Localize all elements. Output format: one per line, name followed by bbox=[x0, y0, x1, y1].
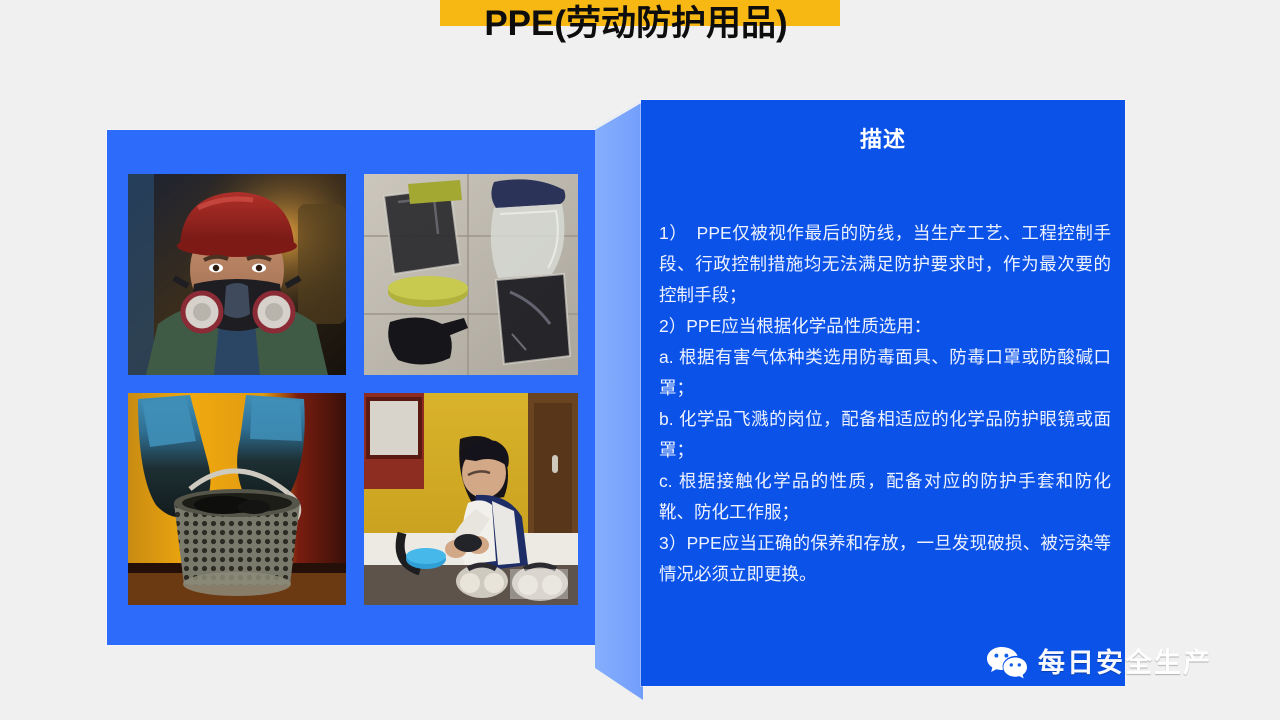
photo-chemical-gloves bbox=[128, 393, 346, 605]
description-panel: 描述 1） PPE仅被视作最后的防线，当生产工艺、工程控制手段、行政控制措施均无… bbox=[641, 100, 1125, 686]
description-body: 1） PPE仅被视作最后的防线，当生产工艺、工程控制手段、行政控制措施均无法满足… bbox=[659, 218, 1111, 590]
panel-connector-wedge bbox=[595, 100, 643, 700]
photo-respirator-cleaning-image bbox=[364, 393, 578, 605]
description-heading: 描述 bbox=[641, 122, 1125, 154]
slide-root: PPE(劳动防护用品) bbox=[0, 0, 1280, 720]
photo-ppe-kit bbox=[364, 174, 578, 375]
description-paragraph-5: c. 根据接触化学品的性质，配备对应的防护手套和防化靴、防化工作服； bbox=[659, 466, 1111, 528]
description-paragraph-4: b. 化学品飞溅的岗位，配备相适应的化学品防护眼镜或面罩； bbox=[659, 404, 1111, 466]
photo-grid bbox=[128, 174, 578, 604]
page-title: PPE(劳动防护用品) bbox=[0, 0, 1280, 70]
photo-ppe-kit-image bbox=[364, 174, 578, 375]
photo-respirator-worker-image bbox=[128, 174, 346, 375]
description-paragraph-1: 1） PPE仅被视作最后的防线，当生产工艺、工程控制手段、行政控制措施均无法满足… bbox=[659, 218, 1111, 311]
photo-respirator-worker bbox=[128, 174, 346, 375]
page-title-text: PPE(劳动防护用品) bbox=[0, 6, 1280, 43]
photo-respirator-cleaning bbox=[364, 393, 578, 605]
photo-chemical-gloves-image bbox=[128, 393, 346, 605]
description-paragraph-3: a. 根据有害气体种类选用防毒面具、防毒口罩或防酸碱口罩； bbox=[659, 342, 1111, 404]
description-paragraph-6: 3）PPE应当正确的保养和存放，一旦发现破损、被污染等情况必须立即更换。 bbox=[659, 528, 1111, 590]
description-paragraph-2: 2）PPE应当根据化学品性质选用： bbox=[659, 311, 1111, 342]
ppe-photo-panel bbox=[107, 130, 617, 645]
